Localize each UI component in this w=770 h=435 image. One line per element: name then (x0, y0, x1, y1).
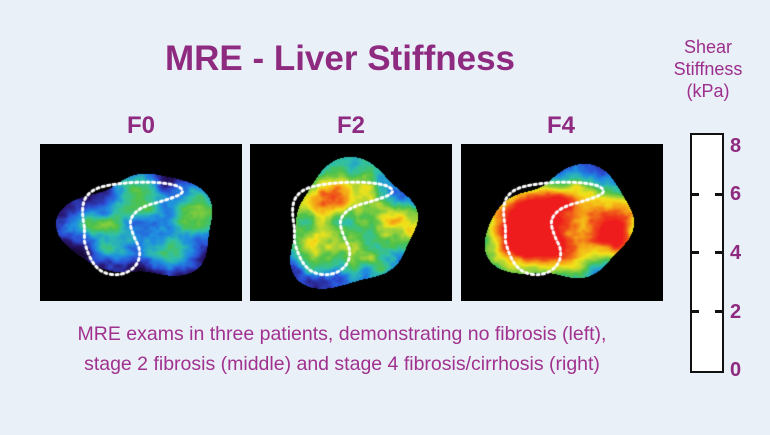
colorbar-legend: Shear Stiffness (kPa) 8 6 4 2 0 (664, 36, 770, 386)
colorbar-label-2: 2 (730, 302, 756, 322)
page-title: MRE - Liver Stiffness (20, 38, 660, 80)
colorbar-tick-4-right (715, 251, 723, 254)
mre-elastogram-f0 (40, 144, 242, 301)
caption-line-2: stage 2 fibrosis (middle) and stage 4 fi… (18, 349, 666, 379)
figure-caption: MRE exams in three patients, demonstrati… (18, 319, 666, 379)
mre-panel-f4 (461, 144, 663, 301)
panel-label-f0: F0 (101, 112, 181, 140)
colorbar-title-line-1: Shear (664, 36, 752, 58)
colorbar-label-4: 4 (730, 243, 756, 263)
colorbar-tick-6-right (715, 193, 723, 196)
colorbar-label-6: 6 (730, 184, 756, 204)
caption-line-1: MRE exams in three patients, demonstrati… (18, 319, 666, 349)
colorbar-tick-2-right (715, 310, 723, 313)
colorbar-tick-6-left (691, 193, 699, 196)
colorbar-tick-2-left (691, 310, 699, 313)
colorbar-title-line-3: (kPa) (664, 80, 752, 102)
mre-panel-f2 (250, 144, 452, 301)
colorbar-scale (690, 133, 724, 373)
colorbar-label-0: 0 (730, 360, 756, 380)
panel-label-f2: F2 (311, 112, 391, 140)
colorbar-tick-4-left (691, 251, 699, 254)
mre-elastogram-f2 (250, 144, 452, 301)
colorbar-title: Shear Stiffness (kPa) (664, 36, 752, 102)
mre-elastogram-f4 (461, 144, 663, 301)
mre-panel-f0 (40, 144, 242, 301)
panel-label-f4: F4 (521, 112, 601, 140)
colorbar-label-8: 8 (730, 136, 756, 156)
colorbar-title-line-2: Stiffness (664, 58, 752, 80)
slide-canvas: MRE - Liver Stiffness F0 F2 F4 MRE exams… (0, 0, 770, 435)
